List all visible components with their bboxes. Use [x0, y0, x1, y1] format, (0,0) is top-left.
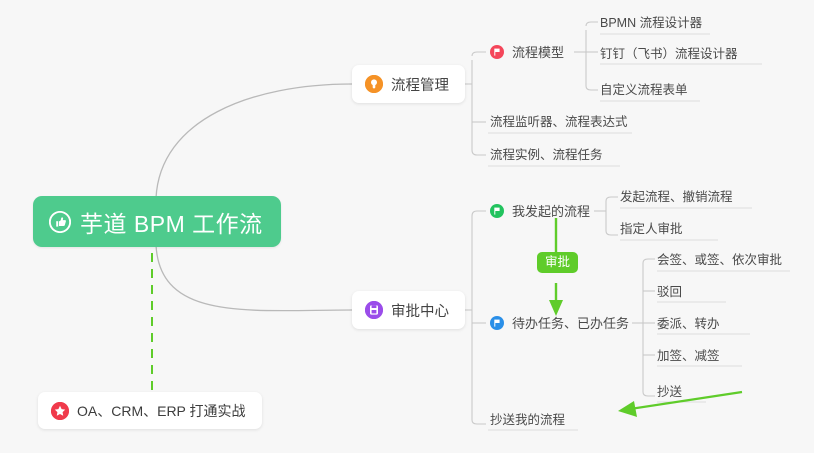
leaf-add-remove-sign[interactable]: 加签、减签	[657, 345, 720, 365]
leaf-label: 抄送我的流程	[490, 409, 565, 428]
branch-label: 审批中心	[391, 300, 449, 321]
flag-red-icon	[490, 45, 504, 59]
subnode-label: 待办任务、已办任务	[512, 313, 629, 332]
leaf-cc[interactable]: 抄送	[657, 381, 682, 401]
branch-process-management[interactable]: 流程管理	[352, 65, 465, 103]
leaf-custom-process-form[interactable]: 自定义流程表单	[600, 79, 688, 99]
subnode-process-model[interactable]: 流程模型	[490, 42, 564, 61]
note-label: OA、CRM、ERP 打通实战	[77, 401, 246, 421]
lightbulb-icon	[365, 75, 383, 93]
branch-approval-center[interactable]: 审批中心	[352, 291, 465, 329]
root-label: 芋道 BPM 工作流	[80, 205, 263, 239]
leaf-designated-approver[interactable]: 指定人审批	[620, 218, 683, 238]
clipboard-icon	[365, 301, 383, 319]
thumbs-up-icon	[49, 211, 71, 233]
leaf-dingtalk-feishu-designer[interactable]: 钉钉（飞书）流程设计器	[600, 43, 738, 63]
leaf-start-cancel-process[interactable]: 发起流程、撤销流程	[620, 186, 733, 206]
leaf-bpmn-designer[interactable]: BPMN 流程设计器	[600, 12, 702, 32]
branch-label: 流程管理	[391, 74, 449, 95]
leaf-label: 驳回	[657, 281, 682, 300]
flag-green-icon	[490, 204, 504, 218]
leaf-label: 自定义流程表单	[600, 79, 688, 98]
leaf-reject[interactable]: 驳回	[657, 281, 682, 301]
flag-blue-icon	[490, 316, 504, 330]
subnode-todo-done-tasks[interactable]: 待办任务、已办任务	[490, 313, 629, 332]
approval-callout-badge: 审批	[537, 252, 578, 273]
leaf-cc-my-process[interactable]: 抄送我的流程	[490, 409, 565, 429]
leaf-countersign[interactable]: 会签、或签、依次审批	[657, 249, 782, 269]
leaf-process-instance-task[interactable]: 流程实例、流程任务	[490, 144, 603, 164]
leaf-label: 加签、减签	[657, 345, 720, 364]
leaf-label: 流程实例、流程任务	[490, 144, 603, 163]
leaf-delegate-transfer[interactable]: 委派、转办	[657, 313, 720, 333]
callout-label: 审批	[545, 256, 570, 269]
integration-note-card[interactable]: OA、CRM、ERP 打通实战	[38, 392, 262, 429]
leaf-label: BPMN 流程设计器	[600, 12, 702, 31]
star-icon	[51, 402, 69, 420]
leaf-label: 指定人审批	[620, 218, 683, 237]
leaf-label: 会签、或签、依次审批	[657, 249, 782, 268]
leaf-label: 抄送	[657, 381, 682, 400]
leaf-label: 流程监听器、流程表达式	[490, 111, 628, 130]
leaf-label: 委派、转办	[657, 313, 720, 332]
root-node[interactable]: 芋道 BPM 工作流	[33, 196, 281, 247]
subnode-my-initiated[interactable]: 我发起的流程	[490, 201, 590, 220]
subnode-label: 流程模型	[512, 42, 564, 61]
leaf-process-listener-expression[interactable]: 流程监听器、流程表达式	[490, 111, 628, 131]
leaf-label: 钉钉（飞书）流程设计器	[600, 43, 738, 62]
mindmap-canvas: 芋道 BPM 工作流 流程管理 流程模型 BPMN 流程设计器 钉钉（飞书）流程…	[0, 0, 814, 453]
leaf-label: 发起流程、撤销流程	[620, 186, 733, 205]
subnode-label: 我发起的流程	[512, 201, 590, 220]
